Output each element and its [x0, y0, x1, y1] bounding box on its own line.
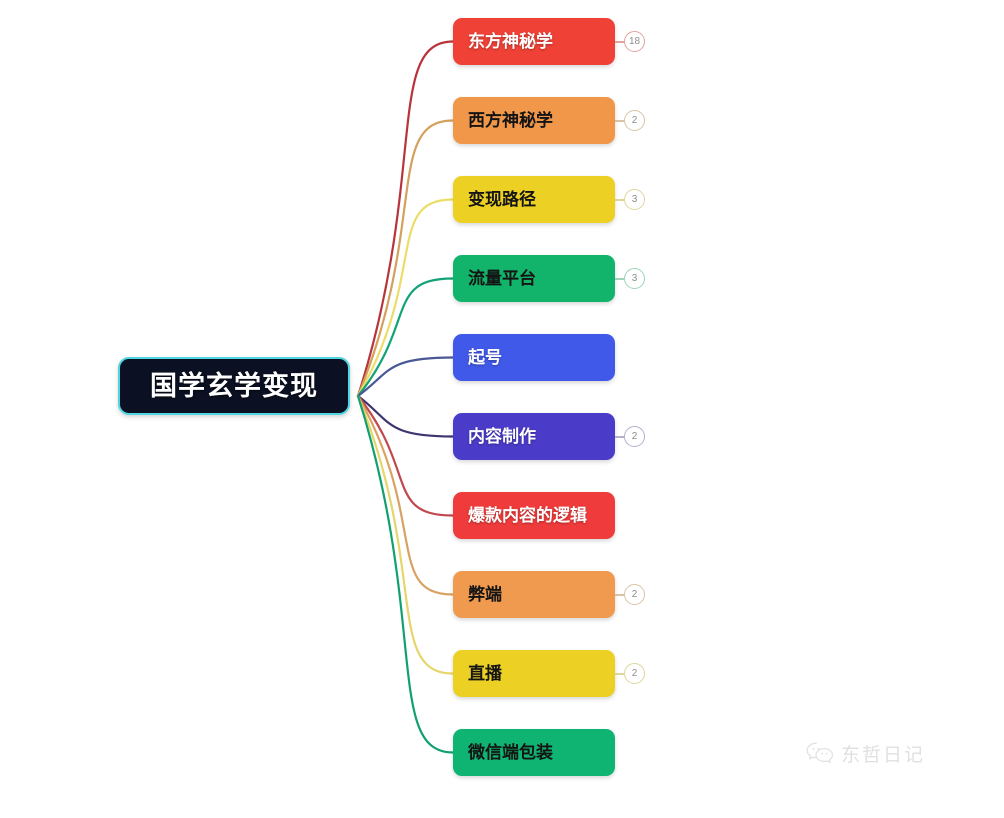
branch-node[interactable]: 弊端 [453, 571, 615, 618]
branch-node-label: 弊端 [453, 586, 502, 603]
connector-line [358, 200, 453, 397]
badge-connector [615, 120, 624, 122]
badge-connector [615, 436, 624, 438]
branch-node[interactable]: 微信端包装 [453, 729, 615, 776]
connector-line [358, 42, 453, 397]
branch-node[interactable]: 起号 [453, 334, 615, 381]
root-node[interactable]: 国学玄学变现 [118, 357, 350, 415]
child-count-badge[interactable]: 3 [624, 189, 645, 210]
branch-node-label: 爆款内容的逻辑 [453, 507, 587, 524]
badge-connector [615, 278, 624, 280]
mindmap-canvas: 国学玄学变现 东方神秘学18西方神秘学2变现路径3流量平台3起号内容制作2爆款内… [0, 0, 1004, 818]
root-node-label: 国学玄学变现 [150, 373, 318, 400]
branch-node-label: 微信端包装 [453, 744, 553, 761]
branch-node[interactable]: 直播 [453, 650, 615, 697]
connector-line [358, 396, 453, 674]
child-count-badge[interactable]: 2 [624, 663, 645, 684]
branch-node-label: 东方神秘学 [453, 33, 553, 50]
badge-connector [615, 594, 624, 596]
child-count-badge[interactable]: 2 [624, 426, 645, 447]
branch-node-label: 内容制作 [453, 428, 536, 445]
branch-node-label: 变现路径 [453, 191, 536, 208]
branch-node[interactable]: 爆款内容的逻辑 [453, 492, 615, 539]
badge-connector [615, 199, 624, 201]
connector-line [358, 396, 453, 516]
branch-node[interactable]: 东方神秘学 [453, 18, 615, 65]
branch-node-label: 流量平台 [453, 270, 536, 287]
connector-line [358, 279, 453, 397]
child-count-badge[interactable]: 18 [624, 31, 645, 52]
connector-line [358, 396, 453, 437]
child-count-badge[interactable]: 2 [624, 584, 645, 605]
child-count-badge[interactable]: 3 [624, 268, 645, 289]
branch-node[interactable]: 内容制作 [453, 413, 615, 460]
connector-line [358, 121, 453, 397]
branch-node-label: 直播 [453, 665, 502, 682]
branch-node[interactable]: 变现路径 [453, 176, 615, 223]
branch-node-label: 西方神秘学 [453, 112, 553, 129]
watermark-text: 东哲日记 [841, 746, 925, 765]
badge-connector [615, 41, 624, 43]
branch-node[interactable]: 流量平台 [453, 255, 615, 302]
wechat-icon [806, 742, 834, 769]
child-count-badge[interactable]: 2 [624, 110, 645, 131]
branch-node-label: 起号 [453, 349, 502, 366]
branch-node[interactable]: 西方神秘学 [453, 97, 615, 144]
badge-connector [615, 673, 624, 675]
connector-line [358, 396, 453, 753]
watermark: 东哲日记 [806, 742, 925, 769]
connector-line [358, 396, 453, 595]
connector-line [358, 358, 453, 397]
